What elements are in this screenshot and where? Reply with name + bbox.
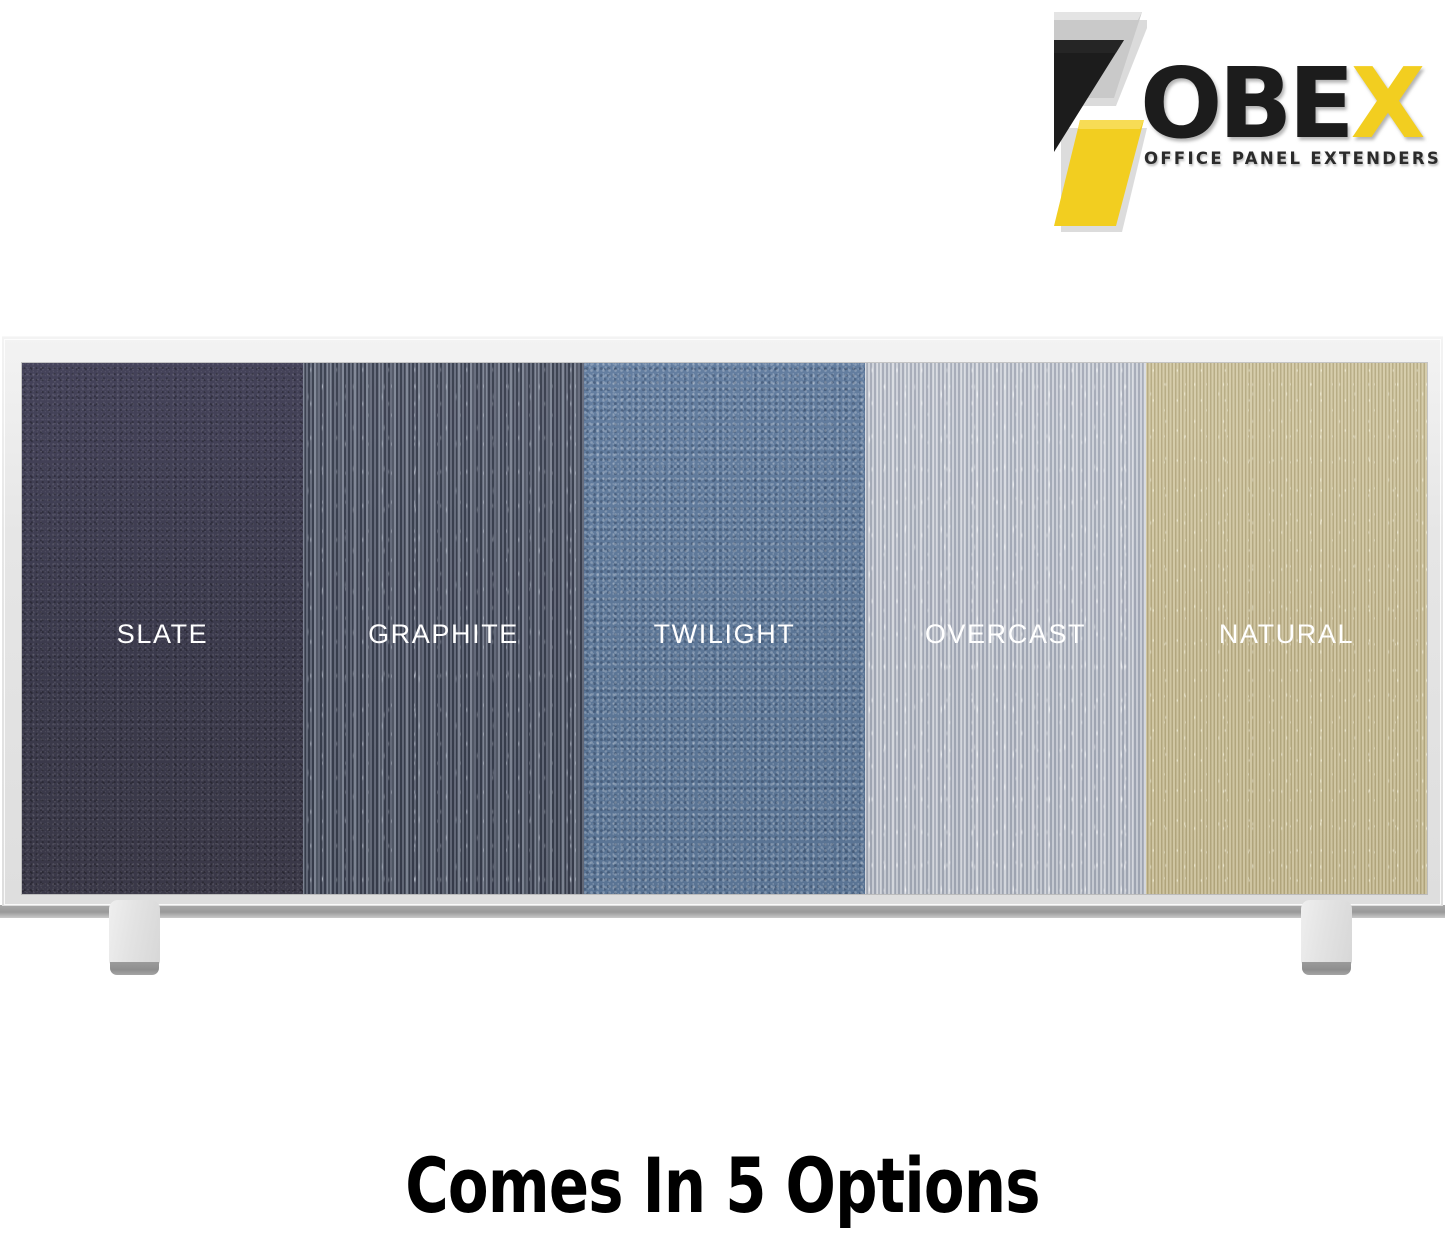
obex-wordmark: OBEX OFFICE PANEL EXTENDERS [1140, 54, 1440, 174]
bracket-body [1301, 900, 1352, 966]
swatch-label: GRAPHITE [303, 619, 584, 650]
obex-logo: OBEX OFFICE PANEL EXTENDERS [1032, 6, 1432, 236]
panel-frame: SLATE GRAPHITE TWILIGHT OVERCAST NATURAL [2, 336, 1443, 906]
swatch-label: NATURAL [1146, 619, 1427, 650]
panel-bottom-rail [0, 905, 1445, 918]
swatch-natural: NATURAL [1146, 363, 1427, 894]
swatch-graphite: GRAPHITE [303, 363, 584, 894]
swatch-overcast: OVERCAST [865, 363, 1146, 894]
swatch-twilight: TWILIGHT [584, 363, 865, 894]
swatch-label: TWILIGHT [584, 619, 865, 650]
bracket-body [109, 900, 160, 966]
panel-extender-product-image: SLATE GRAPHITE TWILIGHT OVERCAST NATURAL [0, 336, 1445, 918]
bracket-base [110, 962, 159, 975]
caption-text: Comes In 5 Options [159, 1142, 1286, 1230]
wordmark-dark-text: OBE [1140, 47, 1351, 160]
logo-tagline: OFFICE PANEL EXTENDERS [1144, 149, 1441, 168]
bracket-base [1302, 962, 1351, 975]
swatch-label: OVERCAST [865, 619, 1146, 650]
obex-chevron-mark-icon [1032, 10, 1152, 238]
fabric-swatch-strip: SLATE GRAPHITE TWILIGHT OVERCAST NATURAL [22, 363, 1427, 894]
mounting-bracket-right [1301, 900, 1352, 975]
mounting-bracket-left [109, 900, 160, 975]
swatch-slate: SLATE [22, 363, 303, 894]
wordmark-accent-text: X [1351, 47, 1422, 160]
swatch-label: SLATE [22, 619, 303, 650]
